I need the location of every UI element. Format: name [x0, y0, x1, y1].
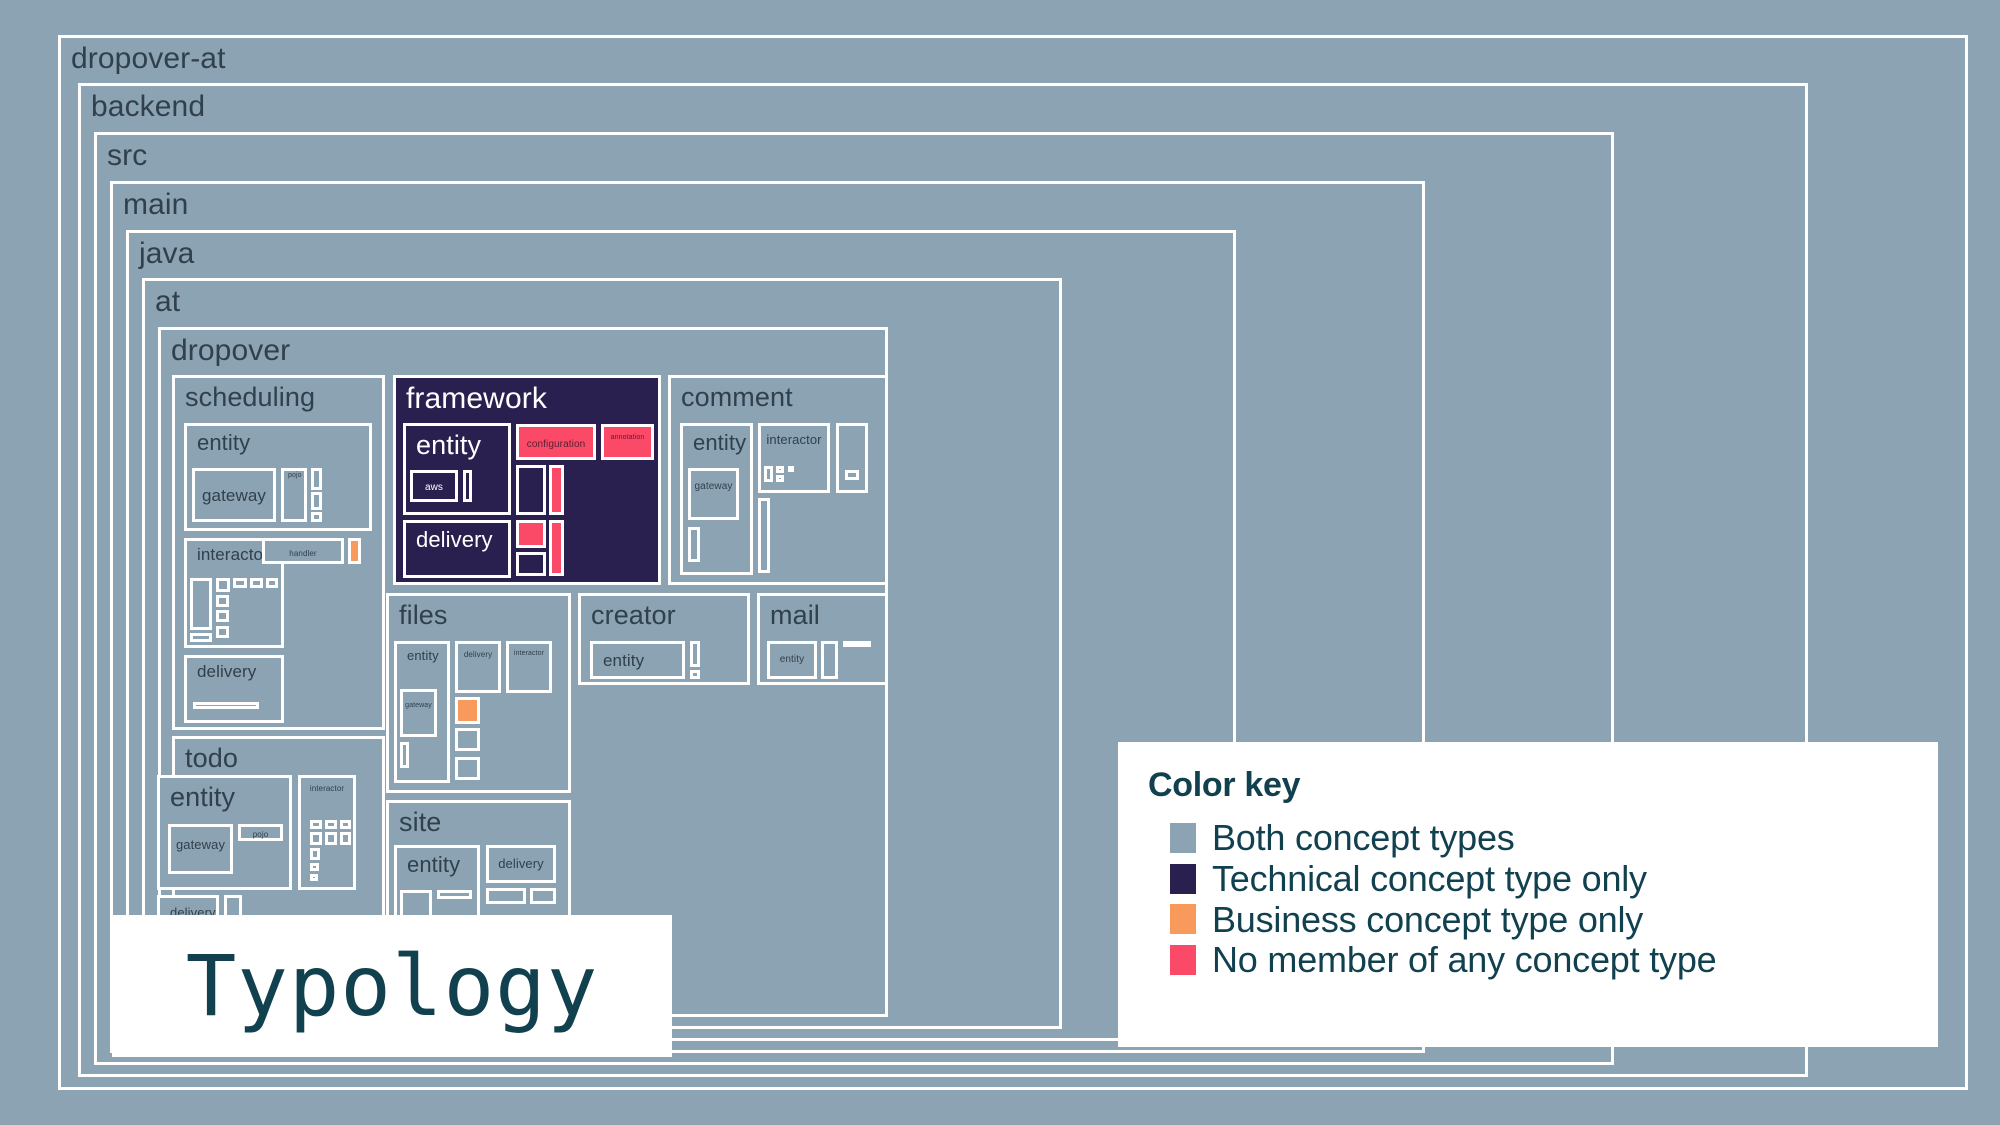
treemap-leaf[interactable]: [216, 626, 229, 638]
node-label: interactor: [509, 650, 549, 657]
treemap-node-business-leaf[interactable]: [455, 697, 480, 724]
page-title: Typology: [186, 937, 599, 1035]
treemap-leaf[interactable]: [455, 757, 480, 780]
treemap-leaf[interactable]: [311, 468, 322, 490]
node-label: scheduling: [185, 382, 315, 413]
node-label: aws: [413, 482, 455, 493]
treemap-node-comment-entity-gateway[interactable]: gateway: [688, 468, 739, 520]
treemap-leaf[interactable]: [788, 466, 794, 472]
node-label: backend: [91, 90, 205, 124]
treemap-leaf[interactable]: [190, 633, 212, 642]
node-label: delivery: [197, 662, 256, 682]
node-label: todo: [185, 743, 238, 774]
treemap-leaf[interactable]: [455, 728, 480, 751]
treemap-leaf[interactable]: [516, 552, 546, 576]
treemap-leaf[interactable]: [764, 466, 773, 482]
treemap-node-todo-entity-pojo[interactable]: pojo: [238, 824, 283, 841]
node-label: gateway: [171, 837, 230, 852]
treemap-leaf[interactable]: [310, 848, 320, 860]
color-key-legend: Color key Both concept types Technical c…: [1118, 742, 1938, 1047]
node-label: site: [399, 807, 441, 838]
node-label: interactor: [301, 784, 353, 793]
title-card: Typology: [112, 915, 672, 1057]
treemap-node-creator-entity[interactable]: entity: [590, 641, 685, 679]
treemap-leaf[interactable]: [266, 578, 278, 588]
node-label: configuration: [519, 439, 593, 450]
node-label: java: [139, 237, 194, 271]
node-label: entity: [416, 430, 481, 461]
treemap-node-framework-annotation[interactable]: annotation: [601, 424, 654, 460]
legend-heading: Color key: [1148, 766, 1908, 805]
treemap-leaf[interactable]: [310, 820, 322, 829]
treemap-leaf[interactable]: [549, 520, 564, 576]
node-label: pojo: [288, 472, 302, 479]
treemap-node-framework-configuration[interactable]: configuration: [516, 424, 596, 460]
treemap-leaf[interactable]: [776, 466, 784, 473]
treemap-node-mail-entity[interactable]: entity: [767, 641, 817, 679]
node-label: files: [399, 600, 448, 631]
node-label: entity: [197, 430, 250, 456]
treemap-leaf[interactable]: [311, 492, 322, 510]
node-label: entity: [770, 654, 814, 665]
treemap-leaf[interactable]: [216, 578, 230, 592]
node-label: entity: [693, 430, 746, 456]
treemap-leaf[interactable]: [690, 641, 700, 667]
treemap-leaf[interactable]: [193, 702, 259, 709]
treemap-leaf[interactable]: [325, 820, 337, 829]
treemap-leaf[interactable]: [310, 863, 319, 871]
node-label: interactor: [197, 545, 269, 565]
node-label: entity: [170, 782, 235, 813]
treemap-leaf[interactable]: [690, 670, 700, 679]
treemap-leaf[interactable]: [758, 498, 770, 573]
treemap-leaf[interactable]: [516, 520, 546, 548]
treemap-node-scheduling-delivery[interactable]: delivery: [184, 655, 284, 723]
node-label: gateway: [403, 702, 434, 709]
node-label: mail: [770, 600, 820, 631]
treemap-leaf[interactable]: [516, 465, 546, 515]
node-label: pojo: [241, 830, 280, 839]
legend-item-business: Business concept type only: [1148, 901, 1908, 939]
treemap-leaf[interactable]: [190, 578, 212, 630]
node-label: delivery: [489, 856, 553, 871]
treemap-node-site-delivery[interactable]: delivery: [486, 845, 556, 883]
treemap-node-scheduling-handler[interactable]: handler: [262, 538, 344, 564]
treemap-leaf[interactable]: [233, 578, 247, 588]
treemap-node-files-interactor[interactable]: interactor: [506, 641, 552, 693]
treemap-leaf[interactable]: [463, 470, 472, 502]
legend-item-none: No member of any concept type: [1148, 941, 1908, 979]
treemap-leaf[interactable]: [688, 527, 700, 562]
node-label: dropover-at: [71, 42, 226, 76]
treemap-leaf[interactable]: [549, 465, 564, 515]
treemap-node-comment-interactor[interactable]: interactor: [758, 423, 830, 493]
treemap-leaf[interactable]: [340, 820, 351, 829]
treemap-leaf[interactable]: [216, 595, 229, 607]
treemap-node-todo-entity-gateway[interactable]: gateway: [168, 824, 233, 874]
treemap-leaf[interactable]: [845, 470, 859, 480]
legend-swatch-technical: [1170, 864, 1196, 894]
node-label: dropover: [171, 334, 290, 368]
legend-swatch-both: [1170, 823, 1196, 853]
node-label: framework: [406, 382, 547, 416]
legend-label: Business concept type only: [1212, 901, 1643, 939]
treemap-leaf[interactable]: [486, 888, 526, 904]
node-label: src: [107, 139, 147, 173]
node-label: annotation: [604, 434, 651, 441]
treemap-node-files-entity-gateway[interactable]: gateway: [400, 689, 437, 737]
node-label: entity: [407, 852, 460, 878]
node-label: comment: [681, 382, 793, 413]
treemap-node-files-delivery[interactable]: delivery: [455, 641, 501, 693]
treemap-leaf[interactable]: [310, 874, 318, 881]
treemap-leaf[interactable]: [310, 832, 322, 845]
treemap-leaf[interactable]: [776, 475, 784, 482]
node-label: gateway: [691, 481, 736, 492]
treemap-leaf[interactable]: [530, 888, 556, 904]
treemap-leaf[interactable]: [836, 423, 868, 493]
node-label: interactor: [761, 432, 827, 447]
legend-item-both: Both concept types: [1148, 819, 1908, 857]
treemap-leaf[interactable]: [437, 890, 472, 899]
treemap-leaf[interactable]: [311, 512, 322, 522]
node-label: main: [123, 188, 188, 222]
treemap-node-scheduling-entity-gateway[interactable]: gateway: [192, 468, 276, 522]
legend-item-technical: Technical concept type only: [1148, 860, 1908, 898]
node-label: delivery: [416, 527, 493, 553]
treemap-leaf[interactable]: [250, 578, 263, 588]
treemap-node-framework-entity-aws[interactable]: aws: [410, 470, 458, 502]
treemap-leaf[interactable]: [340, 832, 351, 845]
node-label: handler: [265, 549, 341, 558]
treemap-leaf[interactable]: [325, 832, 337, 845]
treemap-leaf[interactable]: [216, 610, 229, 622]
legend-label: Technical concept type only: [1212, 860, 1647, 898]
treemap-leaf[interactable]: [400, 742, 409, 768]
node-label: delivery: [458, 650, 498, 659]
legend-label: No member of any concept type: [1212, 941, 1716, 979]
node-label: entity: [603, 651, 644, 671]
node-label: at: [155, 285, 180, 319]
treemap-leaf[interactable]: [821, 641, 838, 679]
legend-swatch-none: [1170, 945, 1196, 975]
treemap-node-scheduling-entity-pojo[interactable]: pojo: [281, 468, 307, 522]
node-label: gateway: [195, 486, 273, 506]
legend-label: Both concept types: [1212, 819, 1515, 857]
treemap-node-business-leaf[interactable]: [348, 538, 361, 564]
treemap-node-framework-delivery[interactable]: delivery: [403, 520, 511, 578]
legend-swatch-business: [1170, 904, 1196, 934]
node-label: creator: [591, 600, 676, 631]
node-label: entity: [407, 648, 439, 663]
treemap-leaf[interactable]: [843, 641, 871, 647]
